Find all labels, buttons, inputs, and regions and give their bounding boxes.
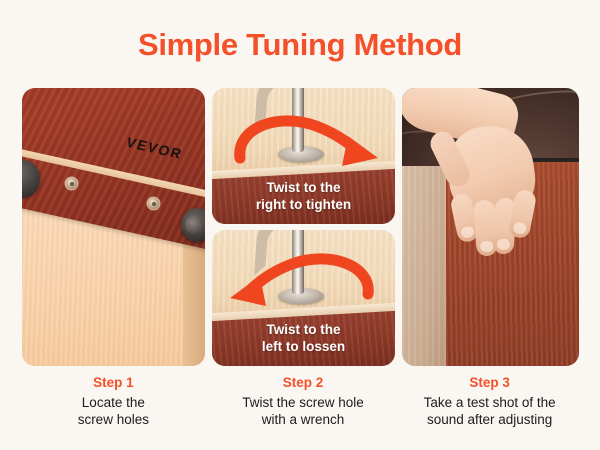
caption-line-1: Twist to the bbox=[220, 322, 387, 339]
panel-hand-test-shot bbox=[402, 88, 579, 366]
page-title: Simple Tuning Method bbox=[0, 26, 600, 64]
step-description-line-1: Take a test shot of the bbox=[401, 394, 578, 411]
step-label: Step 3 bbox=[401, 374, 578, 392]
step-description: Locate the screw holes bbox=[22, 394, 205, 428]
step-description-line-2: sound after adjusting bbox=[401, 411, 578, 428]
step-label: Step 2 bbox=[212, 374, 395, 392]
caption-line-2: left to lossen bbox=[220, 339, 387, 356]
hand-illustration bbox=[436, 88, 540, 268]
step-description-line-2: screw holes bbox=[22, 411, 205, 428]
subpanel-twist-left-loosen: Twist to the left to lossen bbox=[212, 230, 395, 366]
step-description: Take a test shot of the sound after adju… bbox=[401, 394, 578, 428]
step-label: Step 1 bbox=[22, 374, 205, 392]
step-description-line-1: Twist the screw hole bbox=[212, 394, 395, 411]
subpanel-caption: Twist to the left to lossen bbox=[212, 322, 395, 355]
panel-cajon-screw-holes: VEVOR bbox=[22, 88, 205, 366]
step-1: Step 1 Locate the screw holes bbox=[22, 374, 205, 428]
subpanel-caption: Twist to the right to tighten bbox=[212, 180, 395, 213]
panel-row: VEVOR Twist to the right bbox=[22, 88, 578, 366]
curved-arrow-right-icon bbox=[220, 102, 388, 178]
step-2: Step 2 Twist the screw hole with a wrenc… bbox=[212, 374, 395, 428]
screw-hole-icon bbox=[66, 178, 77, 189]
screw-hole-icon bbox=[148, 198, 159, 209]
subpanel-twist-right-tighten: Twist to the right to tighten bbox=[212, 88, 395, 224]
step-3: Step 3 Take a test shot of the sound aft… bbox=[401, 374, 578, 428]
caption-line-2: right to tighten bbox=[220, 197, 387, 214]
tuning-instructions-infographic: Simple Tuning Method VEVOR bbox=[0, 0, 600, 450]
step-description: Twist the screw hole with a wrench bbox=[212, 394, 395, 428]
rubber-foot-icon bbox=[181, 208, 205, 242]
step-caption-row: Step 1 Locate the screw holes Step 2 Twi… bbox=[22, 374, 578, 428]
caption-line-1: Twist to the bbox=[220, 180, 387, 197]
curved-arrow-left-icon bbox=[220, 244, 388, 320]
step-description-line-2: with a wrench bbox=[212, 411, 395, 428]
step-description-line-1: Locate the bbox=[22, 394, 205, 411]
panel-wrench-twist: Twist to the right to tighten Twist to t… bbox=[212, 88, 395, 366]
